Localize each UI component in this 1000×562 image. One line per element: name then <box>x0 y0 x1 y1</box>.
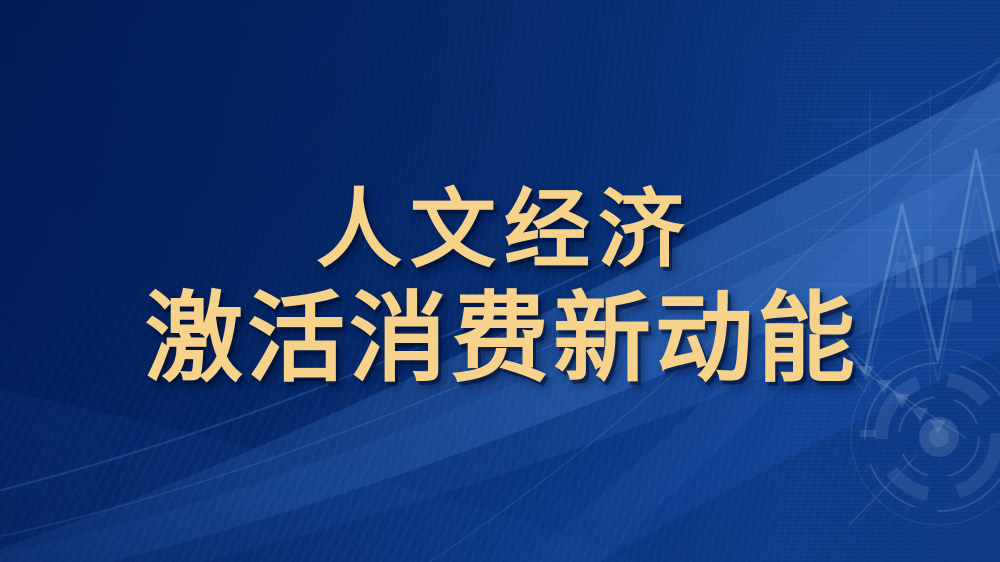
headline-line-2: 激活消费新动能 <box>141 291 859 389</box>
headline-block: 人文经济 激活消费新动能 <box>0 0 1000 562</box>
title-banner: 人文经济 激活消费新动能 <box>0 0 1000 562</box>
headline-line-1: 人文经济 <box>308 187 692 273</box>
